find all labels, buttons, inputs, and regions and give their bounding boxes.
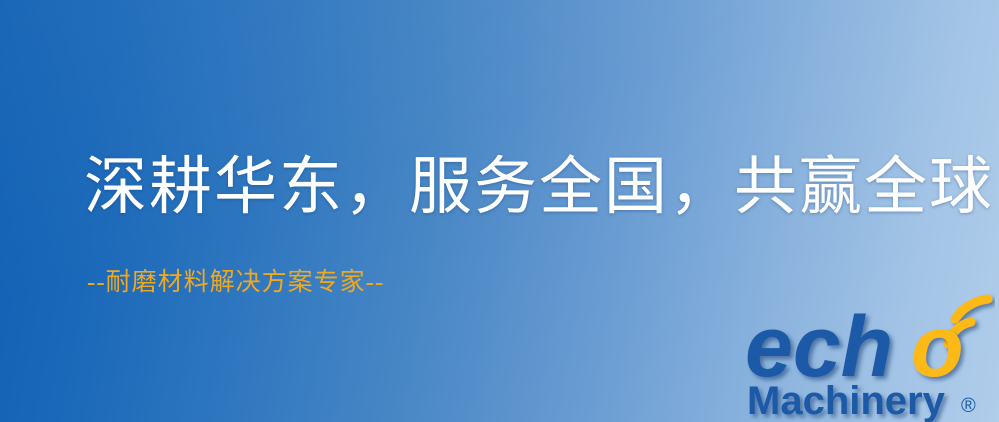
echo-machinery-logo[interactable]: ech o Machinery ® [743, 292, 995, 422]
logo-tagline: Machinery [747, 379, 946, 422]
page-subtitle: --耐磨材料解决方案专家-- [87, 267, 384, 300]
page-title: 深耕华东，服务全国，共赢全球 [84, 150, 994, 226]
registered-trademark-icon: ® [961, 395, 976, 417]
hero-banner: 深耕华东，服务全国，共赢全球 --耐磨材料解决方案专家-- ech o Mach… [0, 0, 999, 422]
